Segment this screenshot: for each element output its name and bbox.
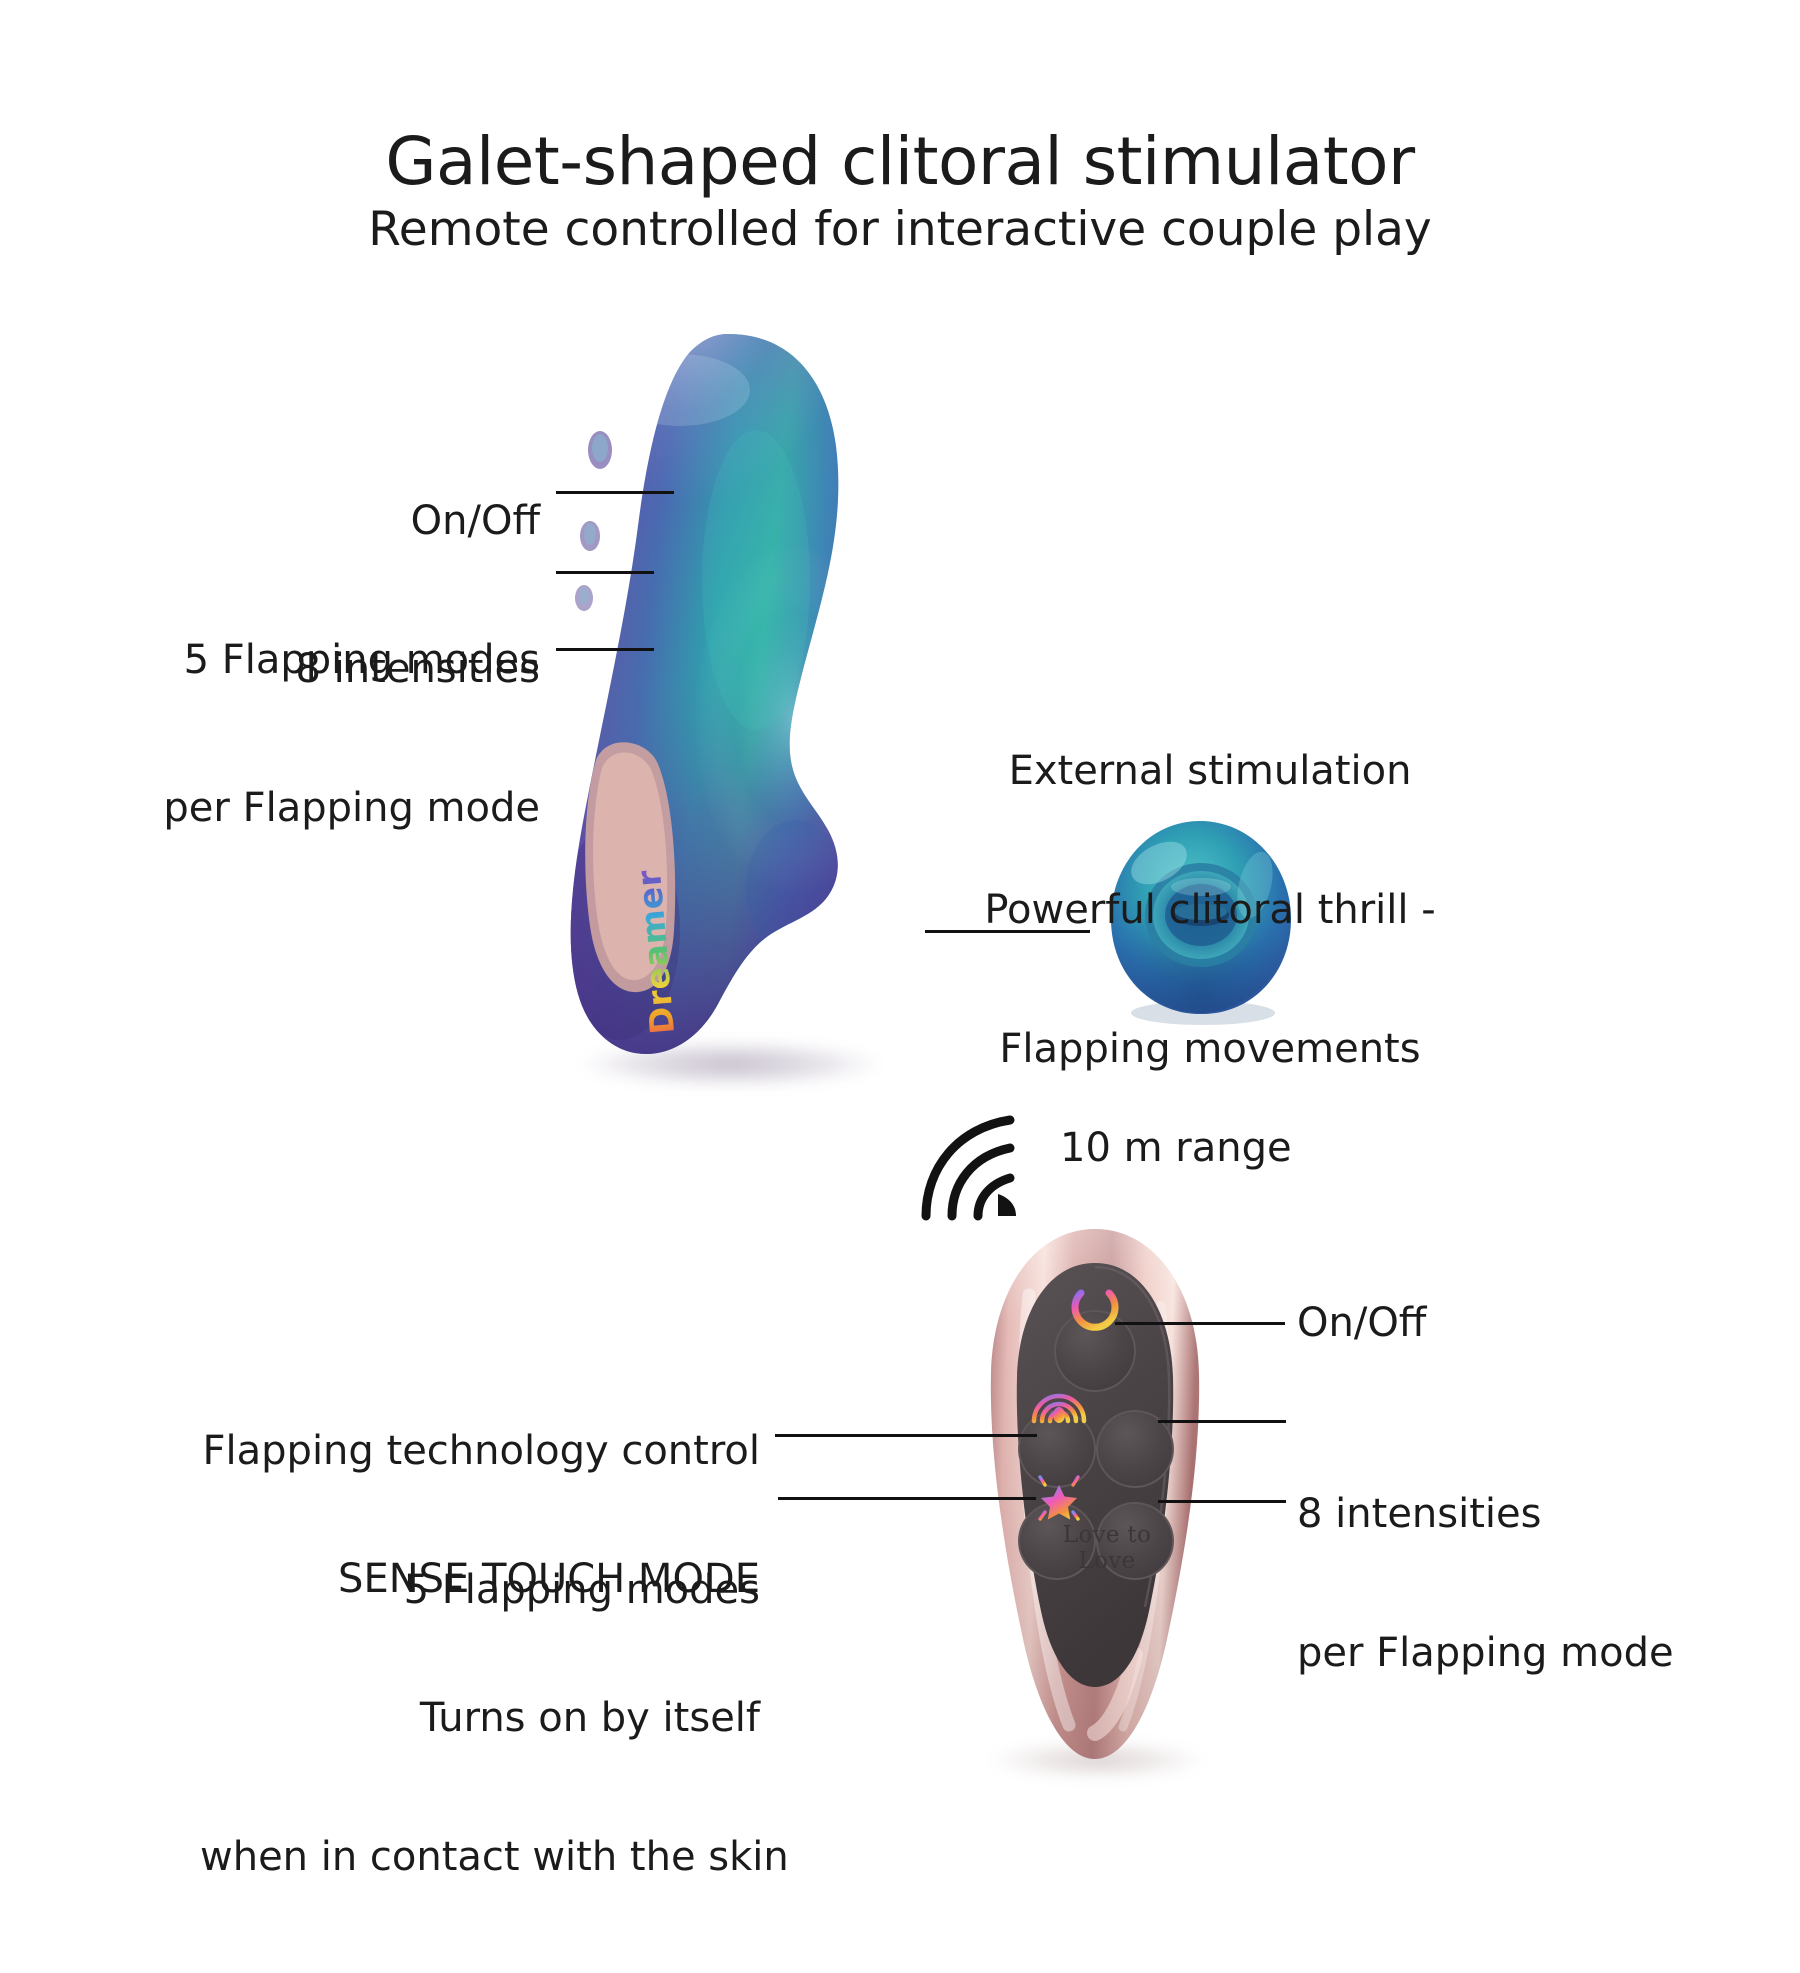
leader-line-device-intensities xyxy=(556,571,654,574)
annotation-remote-sense-touch: SENSE TOUCH MODE Turns on by itself when… xyxy=(200,1463,760,1973)
annotation-remote-sense-line-2: Turns on by itself xyxy=(200,1695,760,1741)
annotation-device-intensities-line-2: per Flapping mode xyxy=(140,785,540,831)
annotation-external-stimulation: External stimulation Powerful clitoral t… xyxy=(950,655,1470,1165)
device-button-dimples xyxy=(575,431,612,611)
infographic-canvas: Galet-shaped clitoral stimulator Remote … xyxy=(0,0,1800,1800)
annotation-range: 10 m range xyxy=(1060,1125,1400,1171)
leader-line-remote-intensities-2 xyxy=(1158,1500,1286,1503)
page-title: Galet-shaped clitoral stimulator xyxy=(0,128,1800,197)
annotation-remote-intensities: 8 intensities per Flapping mode xyxy=(1297,1398,1737,1769)
wifi-signal-icon xyxy=(912,1112,1022,1220)
clitoral-stimulator-device xyxy=(560,330,900,1070)
leader-line-external-stimulation xyxy=(925,930,1090,933)
leader-line-remote-modes xyxy=(775,1434,1037,1437)
annotation-remote-onoff: On/Off xyxy=(1297,1300,1717,1346)
annotation-device-power-line-1: On/Off xyxy=(140,498,540,544)
annotation-device-intensities-line-1: 8 intensities xyxy=(140,646,540,692)
leader-line-device-intensities-2 xyxy=(556,648,654,651)
annotation-remote-intensities-line-2: per Flapping mode xyxy=(1297,1630,1737,1676)
annotation-remote-sense-line-1: SENSE TOUCH MODE xyxy=(200,1556,760,1602)
annotation-remote-intensities-line-1: 8 intensities xyxy=(1297,1491,1737,1537)
annotation-external-line-3: Flapping movements xyxy=(950,1026,1470,1072)
remote-brand-label: Love to Love xyxy=(1032,1522,1182,1574)
annotation-device-intensities: 8 intensities per Flapping mode xyxy=(140,553,540,924)
device-logo-plate xyxy=(585,742,675,992)
annotation-external-line-1: External stimulation xyxy=(950,748,1470,794)
annotation-remote-sense-line-3: when in contact with the skin xyxy=(200,1834,760,1880)
leader-line-remote-sense-touch xyxy=(778,1497,1036,1500)
annotation-external-line-2: Powerful clitoral thrill - xyxy=(950,887,1470,933)
remote-control[interactable] xyxy=(985,1225,1205,1765)
leader-line-remote-onoff xyxy=(1115,1322,1285,1325)
page-subtitle: Remote controlled for interactive couple… xyxy=(0,205,1800,255)
leader-line-remote-intensities xyxy=(1158,1420,1286,1423)
leader-line-device-power xyxy=(556,491,674,494)
